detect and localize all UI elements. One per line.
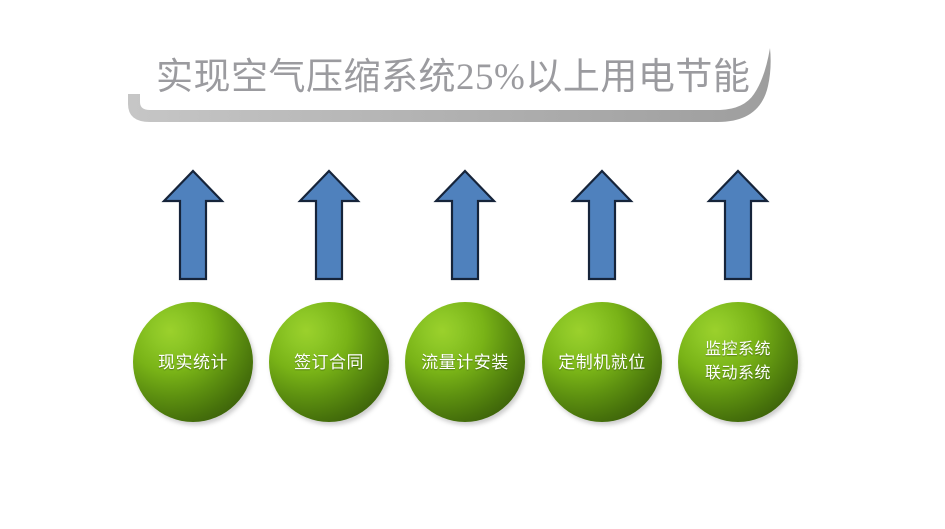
process-circle-4[interactable]: 定制机就位 xyxy=(542,302,662,422)
up-arrow-icon xyxy=(297,168,361,282)
process-circle-3[interactable]: 流量计安装 xyxy=(405,302,525,422)
process-circle-2[interactable]: 签订合同 xyxy=(269,302,389,422)
process-step-4[interactable]: 定制机就位 xyxy=(537,168,667,430)
process-flow: 现实统计 签订合同 流量计安装 xyxy=(0,0,945,529)
process-circle-5[interactable]: 监控系统 联动系统 xyxy=(678,302,798,422)
up-arrow-icon xyxy=(570,168,634,282)
process-step-5[interactable]: 监控系统 联动系统 xyxy=(673,168,803,430)
up-arrow-icon xyxy=(706,168,770,282)
process-circle-label: 定制机就位 xyxy=(554,351,650,374)
process-step-3[interactable]: 流量计安装 xyxy=(400,168,530,430)
process-step-1[interactable]: 现实统计 xyxy=(128,168,258,430)
slide-canvas: 实现空气压缩系统25%以上用电节能 现实统计 签订合同 xyxy=(0,0,945,529)
process-circle-label: 流量计安装 xyxy=(417,351,513,374)
process-circle-label: 现实统计 xyxy=(154,351,232,374)
up-arrow-icon xyxy=(161,168,225,282)
process-circle-label: 监控系统 联动系统 xyxy=(701,338,775,386)
process-circle-label: 签订合同 xyxy=(290,351,368,374)
process-circle-1[interactable]: 现实统计 xyxy=(133,302,253,422)
up-arrow-icon xyxy=(433,168,497,282)
process-step-2[interactable]: 签订合同 xyxy=(264,168,394,430)
